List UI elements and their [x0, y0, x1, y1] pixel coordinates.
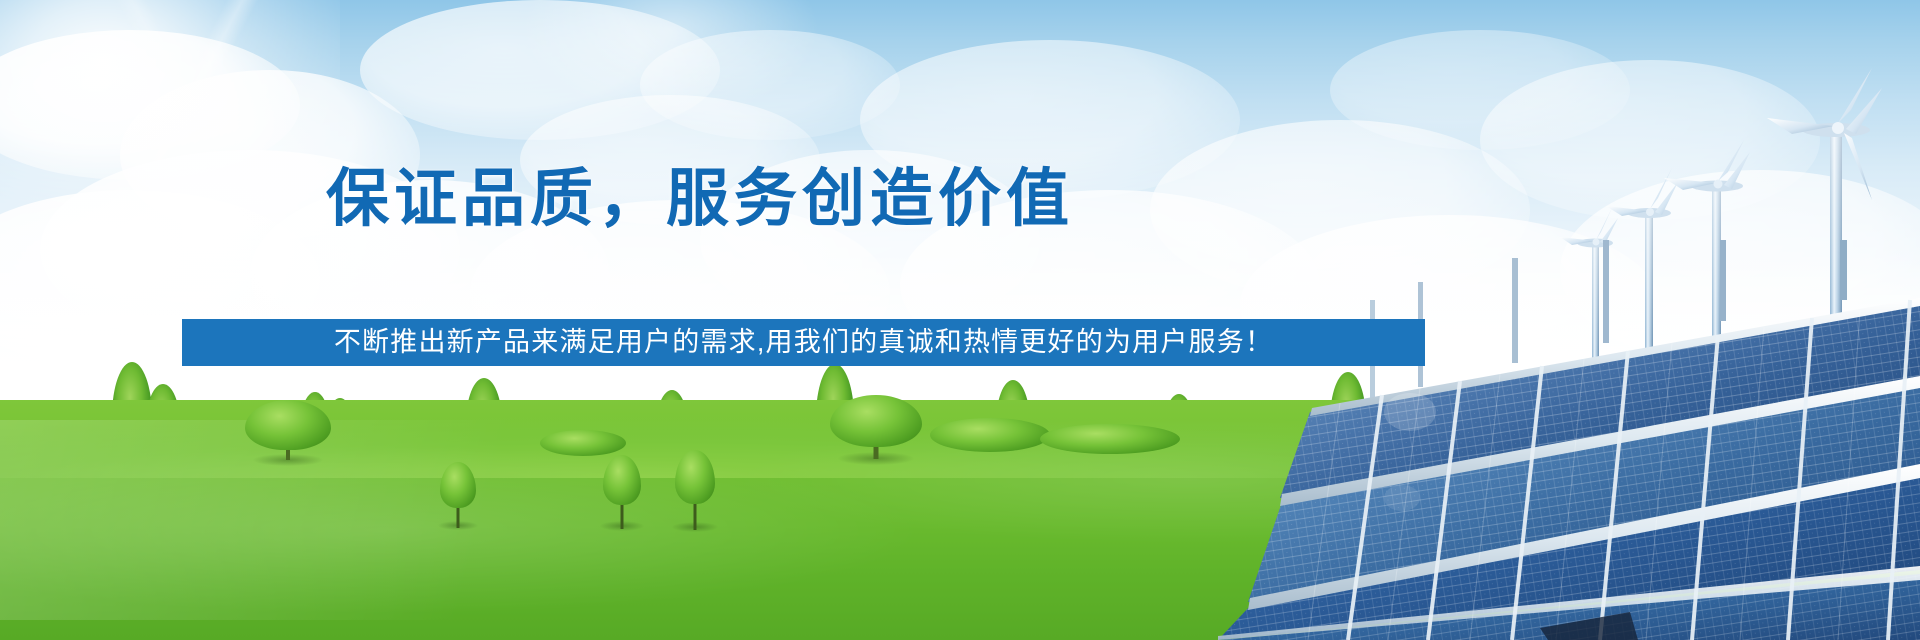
- field-tree: [245, 400, 331, 460]
- subtitle-banner: 不断推出新产品来满足用户的需求,用我们的真诚和热情更好的为用户服务！: [182, 319, 1425, 366]
- hero-banner: 保证品质，服务创造价值 不断推出新产品来满足用户的需求,用我们的真诚和热情更好的…: [0, 0, 1920, 640]
- solar-panel-array: [1160, 240, 1920, 640]
- field-bush: [930, 418, 1050, 452]
- subtitle-text: 不断推出新产品来满足用户的需求,用我们的真诚和热情更好的为用户服务！: [334, 329, 1273, 356]
- page-title: 保证品质，服务创造价值: [0, 168, 1400, 231]
- field-tree: [830, 395, 922, 459]
- sapling: [672, 450, 718, 532]
- sapling: [600, 455, 644, 531]
- field-bush: [540, 430, 626, 456]
- field-bush: [1040, 424, 1180, 454]
- panel-lens-flare: [1384, 393, 1436, 431]
- sapling: [438, 462, 478, 530]
